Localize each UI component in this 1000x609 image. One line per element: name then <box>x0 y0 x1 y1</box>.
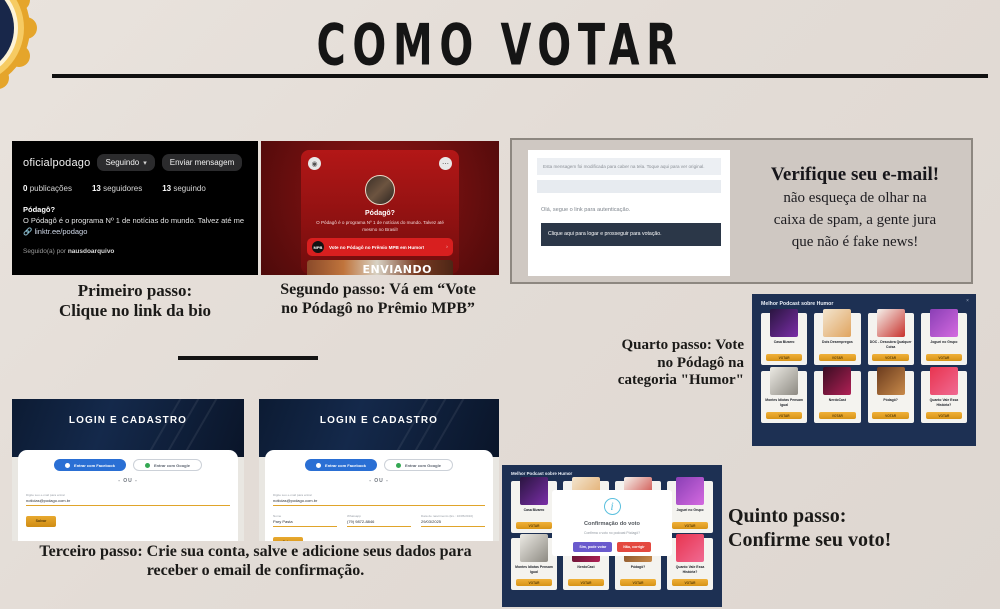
confirm-category-title: Melhor Podcast sobre Humor <box>502 465 722 476</box>
login-email-field-b[interactable]: Digite seu e-mail para entrar noticias@p… <box>273 493 485 506</box>
stat-following[interactable]: 13 seguindo <box>162 184 206 193</box>
nominee-name: NerdoCast <box>577 565 594 576</box>
facebook-icon <box>65 463 70 468</box>
followers-label: seguidores <box>103 184 142 193</box>
step-1-line-2: Clique no link da bio <box>12 301 258 321</box>
confirm-dialog-title: Confirmação do voto <box>584 521 640 527</box>
email-body-line-1: não esqueça de olhar na <box>744 189 966 208</box>
email-greeting: Olá, segue o link para autenticação. <box>541 207 721 213</box>
nominee-card[interactable]: NerdoCastVOTAR <box>814 371 860 423</box>
step-3-caption: Terceiro passo: Crie sua conta, salve e … <box>12 543 499 581</box>
instagram-message-button[interactable]: Enviar mensagem <box>162 154 242 171</box>
email-instruction-text: Verifique seu e-mail! não esqueça de olh… <box>744 164 966 251</box>
following-label: seguindo <box>173 184 205 193</box>
step-4-line-2: no Pódagô na <box>578 355 744 373</box>
login-form-a: Entrar com Facebook Entrar com Google - … <box>18 450 238 541</box>
step-1-line-1: Primeiro passo: <box>12 281 258 301</box>
nominee-cover-image <box>930 367 958 395</box>
nominee-cover-image <box>823 309 851 337</box>
email-cta-button[interactable]: Clique aqui para logar e prosseguir para… <box>541 223 721 246</box>
nominee-vote-button[interactable]: VOTAR <box>819 354 855 361</box>
facebook-login-button[interactable]: Entrar com Facebook <box>54 459 126 471</box>
nominee-card[interactable]: Quanto Vale Essa História?VOTAR <box>667 538 713 590</box>
nominee-vote-button[interactable]: VOTAR <box>766 354 802 361</box>
bio-link-row[interactable]: 🔗 linktr.ee/podago <box>23 227 249 238</box>
nominee-cover-image <box>520 477 548 505</box>
social-login-row: Entrar com Facebook Entrar com Google <box>26 459 230 471</box>
voting-grid-screenshot: Melhor Podcast sobre Humor × Casa Bizarr… <box>752 294 976 446</box>
posts-count: 0 <box>23 184 27 193</box>
email-message-card: Esta mensagem foi modificada para caber … <box>528 150 730 276</box>
nominee-card[interactable]: Quanto Vale Essa História?VOTAR <box>921 371 967 423</box>
step-5-caption: Quinto passo: Confirme seu voto! <box>728 505 996 552</box>
email-body-line-2: caixa de spam, a gente jura <box>744 211 966 230</box>
google-icon <box>396 463 401 468</box>
section-divider <box>178 356 318 360</box>
field-underline <box>421 526 485 527</box>
story-photo-caption: ENVIANDO <box>362 263 432 275</box>
instagram-following-button[interactable]: Seguindo ▾ <box>97 154 154 171</box>
google-login-label-b: Entrar com Google <box>405 463 441 468</box>
more-options-icon[interactable]: ⋯ <box>439 157 452 170</box>
chevron-down-icon: ▾ <box>143 159 147 167</box>
page-title: COMO VOTAR <box>25 12 975 78</box>
nominee-name: Pódagô? <box>883 398 898 409</box>
nominee-name: NerdoCast <box>829 398 846 409</box>
nominee-name: Joguei no Grupo <box>930 340 957 351</box>
nominee-vote-button[interactable]: VOTAR <box>620 579 656 586</box>
confirm-dialog-actions: Sim, pode votar Não, corrigir <box>573 542 650 552</box>
instagram-username: oficialpodago <box>23 157 90 169</box>
nominee-name: Quanto Vale Essa História? <box>669 565 711 576</box>
email-clipped-notice[interactable]: Esta mensagem foi modificada para caber … <box>537 158 721 175</box>
nominee-name: Casa Bizarro <box>524 508 545 519</box>
step-3-line-1: Terceiro passo: Crie sua conta, salve e … <box>12 543 499 562</box>
name-field[interactable]: Nome Pary Pasta <box>273 514 337 527</box>
birthdate-field[interactable]: Data de nascimento (Ex.: 10/05/2010) 29/… <box>421 514 485 527</box>
nominee-vote-button[interactable]: VOTAR <box>516 579 552 586</box>
slide-canvas: Ó BRASIL COMO VOTAR oficialpodago Seguin… <box>0 0 1000 609</box>
field-underline <box>347 526 411 527</box>
whatsapp-field-label: Whatsapp <box>347 514 411 518</box>
login-hero: LOGIN E CADASTRO <box>12 399 244 457</box>
gold-award-seal: Ó BRASIL <box>0 0 66 112</box>
followers-count: 13 <box>92 184 101 193</box>
stat-posts: 0 publicações <box>23 184 72 193</box>
step-3-line-2: receber o email de confirmação. <box>12 562 499 581</box>
facebook-login-label: Entrar com Facebook <box>74 463 115 468</box>
step-4-caption: Quarto passo: Vote no Pódagô na categori… <box>578 337 744 390</box>
posts-label: publicações <box>30 184 72 193</box>
facebook-login-label-b: Entrar com Facebook <box>325 463 366 468</box>
nominee-card[interactable]: Casa BizarroVOTAR <box>511 481 557 533</box>
nominee-name: Casa Bizarro <box>774 340 795 351</box>
followed-by-user: nausdoarquivo <box>68 248 115 255</box>
nominee-name: Montes Idiotas Pensam Igual <box>763 398 805 409</box>
whatsapp-field-value: (79) 9872-8846 <box>347 519 411 524</box>
login-screenshot-step-a: LOGIN E CADASTRO Entrar com Facebook Ent… <box>12 399 244 541</box>
nominee-vote-button[interactable]: VOTAR <box>872 412 908 419</box>
login-form-b: Entrar com Facebook Entrar com Google - … <box>265 450 493 541</box>
facebook-login-button-b[interactable]: Entrar com Facebook <box>305 459 377 471</box>
name-field-value: Pary Pasta <box>273 519 337 524</box>
nominee-vote-button[interactable]: VOTAR <box>819 412 855 419</box>
step-2-caption: Segundo passo: Vá em “Vote no Pódagô no … <box>255 281 501 319</box>
title-divider <box>52 74 988 78</box>
name-field-label: Nome <box>273 514 337 518</box>
nominee-vote-button[interactable]: VOTAR <box>872 354 908 361</box>
instagram-profile-screenshot: oficialpodago Seguindo ▾ Enviar mensagem… <box>12 141 258 275</box>
nominee-cover-image <box>877 367 905 395</box>
nominee-vote-button[interactable]: VOTAR <box>672 522 708 529</box>
nominee-cover-image <box>877 309 905 337</box>
email-headline: Verifique seu e-mail! <box>744 164 966 186</box>
story-vote-link-button[interactable]: MPB Vote no Pódagô no Prêmio MPB em Humo… <box>307 238 453 256</box>
followed-by-prefix: Seguido(a) por <box>23 248 68 255</box>
login-divider-label-b: - OU - <box>273 478 485 484</box>
avatar <box>365 175 395 205</box>
nominee-card[interactable]: Pódagô?VOTAR <box>868 371 914 423</box>
nominee-card[interactable]: Dois DesempregosVOTAR <box>814 313 860 365</box>
instagram-followed-by: Seguido(a) por nausdoarquivo <box>23 248 249 255</box>
link-icon: 🔗 <box>23 227 32 236</box>
nominee-name: Dois Desempregos <box>822 340 853 351</box>
google-icon <box>145 463 150 468</box>
facebook-icon <box>316 463 321 468</box>
nominee-card[interactable]: Joguei no GrupoVOTAR <box>921 313 967 365</box>
nominee-cover-image <box>823 367 851 395</box>
nominee-vote-button[interactable]: VOTAR <box>926 354 962 361</box>
email-screenshot-frame: Esta mensagem foi modificada para caber … <box>510 138 973 284</box>
story-vote-link-label: Vote no Pódagô no Prêmio MPB em Humor! <box>329 245 441 250</box>
login-email-field-a[interactable]: Digite seu e-mail para entrar noticias@p… <box>26 493 230 506</box>
email-field-value: noticias@podago.com.br <box>26 498 230 503</box>
email-body-line-3: que não é fake news! <box>744 233 966 252</box>
nominee-vote-button[interactable]: VOTAR <box>926 412 962 419</box>
nominee-vote-button[interactable]: VOTAR <box>516 522 552 529</box>
email-field-value-b: noticias@podago.com.br <box>273 498 485 503</box>
following-count: 13 <box>162 184 171 193</box>
whatsapp-field[interactable]: Whatsapp (79) 9872-8846 <box>347 514 411 527</box>
step-2-line-1: Segundo passo: Vá em “Vote <box>255 281 501 300</box>
mpb-badge-icon: MPB <box>312 241 324 253</box>
story-profile-name: Pódagô? <box>301 210 459 217</box>
instagram-bio: Pódagô? O Pódagô é o programa Nº 1 de no… <box>23 205 249 238</box>
email-placeholder-bar <box>537 180 721 193</box>
vote-category-title: Melhor Podcast sobre Humor <box>752 294 976 307</box>
nominee-vote-button[interactable]: VOTAR <box>672 579 708 586</box>
info-icon: i <box>604 498 621 515</box>
step-5-line-1: Quinto passo: <box>728 505 996 529</box>
login-hero-title-b: LOGIN E CADASTRO <box>259 399 499 426</box>
step-1-caption: Primeiro passo: Clique no link da bio <box>12 281 258 321</box>
login-hero-b: LOGIN E CADASTRO <box>259 399 499 457</box>
nominee-name: Pódagô? <box>631 565 646 576</box>
save-button-a[interactable]: Salvar <box>26 516 56 527</box>
vote-grid-row-2: Montes Idiotas Pensam IgualVOTARNerdoCas… <box>752 365 976 423</box>
birthdate-field-label: Data de nascimento (Ex.: 10/05/2010) <box>421 514 485 518</box>
confirm-yes-button[interactable]: Sim, pode votar <box>573 542 612 552</box>
field-underline <box>26 505 230 506</box>
bio-display-name: Pódagô? <box>23 205 249 216</box>
nominee-name: Joguei no Grupo <box>676 508 703 519</box>
story-description: O Pódagô é o programa Nº 1 de notícias d… <box>311 220 449 234</box>
login-divider-label: - OU - <box>26 478 230 484</box>
nominee-vote-button[interactable]: VOTAR <box>766 412 802 419</box>
nominee-name: Quanto Vale Essa História? <box>923 398 965 409</box>
vote-grid-row-1: Casa BizarroVOTARDois DesempregosVOTARDO… <box>752 307 976 365</box>
google-login-label: Entrar com Google <box>154 463 190 468</box>
story-card: ◉ ⋯ Pódagô? O Pódagô é o programa Nº 1 d… <box>301 150 459 274</box>
step-2-line-2: no Pódagô no Prêmio MPB” <box>255 300 501 319</box>
google-login-button-b[interactable]: Entrar com Google <box>384 459 453 471</box>
login-screenshot-step-b: LOGIN E CADASTRO Entrar com Facebook Ent… <box>259 399 499 541</box>
following-label: Seguindo <box>105 158 139 167</box>
step-4-line-1: Quarto passo: Vote <box>578 337 744 355</box>
login-hero-title: LOGIN E CADASTRO <box>12 399 244 426</box>
nominee-cover-image <box>770 309 798 337</box>
bio-text: O Pódagô é o programa Nº 1 de notícias d… <box>23 216 249 227</box>
step-4-line-3: categoria "Humor" <box>578 372 744 390</box>
confirm-no-button[interactable]: Não, corrigir <box>617 542 650 552</box>
field-underline <box>273 526 337 527</box>
field-underline <box>273 505 485 506</box>
vote-confirmation-screenshot: Melhor Podcast sobre Humor Casa BizarroV… <box>502 465 722 607</box>
email-field-label-b: Digite seu e-mail para entrar <box>273 493 485 497</box>
social-login-row-b: Entrar com Facebook Entrar com Google <box>273 459 485 471</box>
login-extra-fields: Nome Pary Pasta Whatsapp (79) 9872-8846 … <box>273 514 485 527</box>
nominee-vote-button[interactable]: VOTAR <box>568 579 604 586</box>
story-photo: ENVIANDO <box>307 260 453 275</box>
nominee-cover-image <box>930 309 958 337</box>
nominee-cover-image <box>520 534 548 562</box>
confirm-dialog-question: Confirma o voto no podcast Pódagô? <box>584 531 640 535</box>
camera-icon[interactable]: ◉ <box>308 157 321 170</box>
chevron-right-icon: › <box>446 244 448 250</box>
nominee-name: Montes Idiotas Pensam Igual <box>513 565 555 576</box>
bio-link[interactable]: linktr.ee/podago <box>34 227 87 236</box>
nominee-card[interactable]: Casa BizarroVOTAR <box>761 313 807 365</box>
nominee-cover-image <box>676 477 704 505</box>
confirmation-dialog: i Confirmação do voto Confirma o voto no… <box>552 490 672 556</box>
nominee-card[interactable]: DOC - Descubra Qualquer CoisaVOTAR <box>868 313 914 365</box>
nominee-card[interactable]: Montes Idiotas Pensam IgualVOTAR <box>761 371 807 423</box>
nominee-card[interactable]: Montes Idiotas Pensam IgualVOTAR <box>511 538 557 590</box>
instagram-stats: 0 publicações 13 seguidores 13 seguindo <box>23 184 249 193</box>
nominee-card[interactable]: Joguei no GrupoVOTAR <box>667 481 713 533</box>
google-login-button[interactable]: Entrar com Google <box>133 459 202 471</box>
birthdate-field-value: 29/03/2025 <box>421 519 485 524</box>
instagram-story-screenshot: ◉ ⋯ Pódagô? O Pódagô é o programa Nº 1 d… <box>261 141 499 275</box>
nominee-cover-image <box>676 534 704 562</box>
nominee-name: DOC - Descubra Qualquer Coisa <box>870 340 912 351</box>
step-5-line-2: Confirme seu voto! <box>728 529 996 553</box>
nominee-cover-image <box>770 367 798 395</box>
email-field-label: Digite seu e-mail para entrar <box>26 493 230 497</box>
save-button-b[interactable]: Salvar <box>273 537 303 541</box>
close-icon[interactable]: × <box>966 299 969 304</box>
stat-followers[interactable]: 13 seguidores <box>92 184 142 193</box>
